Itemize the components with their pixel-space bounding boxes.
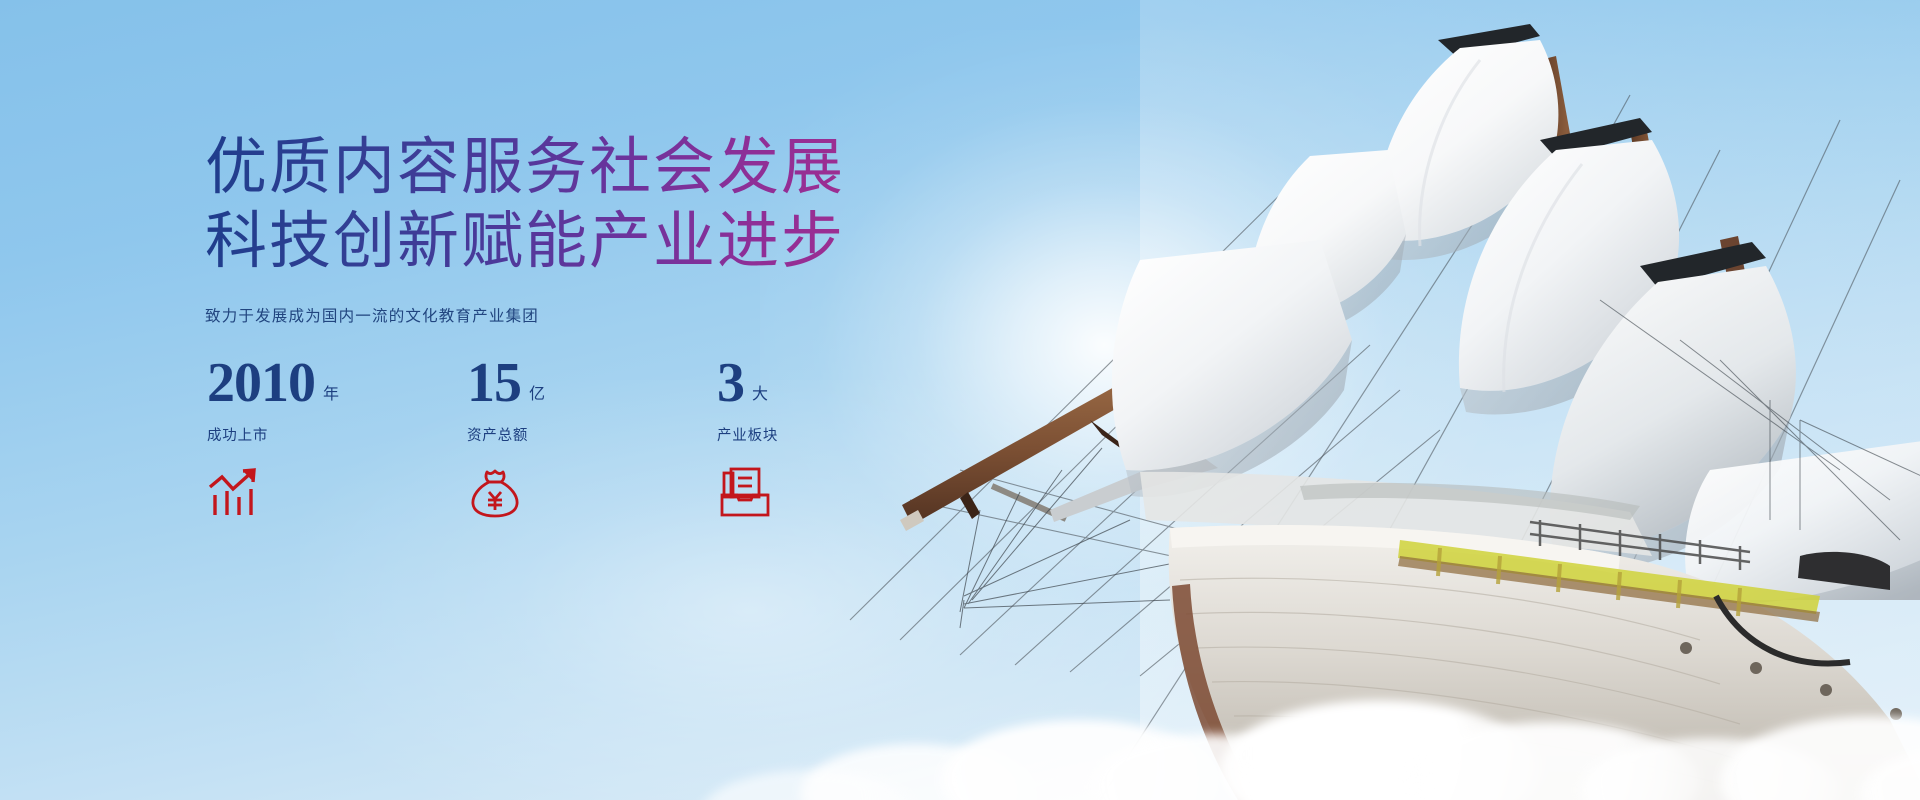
hero-banner: 优质内容服务社会发展 科技创新赋能产业进步 致力于发展成为国内一流的文化教育产业… — [0, 0, 1920, 800]
stat-label: 成功上市 — [207, 424, 467, 445]
stat-unit: 年 — [323, 380, 339, 404]
stat-label: 产业板块 — [717, 424, 977, 445]
stat-value-group: 15 亿 — [467, 355, 717, 411]
stat-value-group: 2010 年 — [207, 355, 467, 411]
headline-line-1: 优质内容服务社会发展 — [205, 132, 905, 204]
stat-unit: 亿 — [529, 380, 545, 404]
document-tray-icon — [717, 467, 773, 519]
headline-line-2: 科技创新赋能产业进步 — [205, 206, 905, 278]
subtitle: 致力于发展成为国内一流的文化教育产业集团 — [205, 304, 905, 326]
stat-number: 3 — [717, 355, 744, 411]
stat-item-assets: 15 亿 资产总额 — [467, 355, 717, 519]
stat-number: 2010 — [207, 355, 315, 411]
stat-item-segments: 3 大 产业板块 — [717, 355, 977, 519]
headline-block: 优质内容服务社会发展 科技创新赋能产业进步 致力于发展成为国内一流的文化教育产业… — [205, 132, 905, 326]
stat-unit: 大 — [752, 380, 768, 404]
growth-chart-icon — [207, 467, 263, 519]
stat-label: 资产总额 — [467, 424, 717, 445]
stat-item-listing: 2010 年 成功上市 — [207, 355, 467, 519]
stat-value-group: 3 大 — [717, 355, 977, 411]
stats-row: 2010 年 成功上市 15 — [207, 355, 977, 519]
stat-number: 15 — [467, 355, 521, 411]
money-bag-icon — [467, 467, 523, 519]
